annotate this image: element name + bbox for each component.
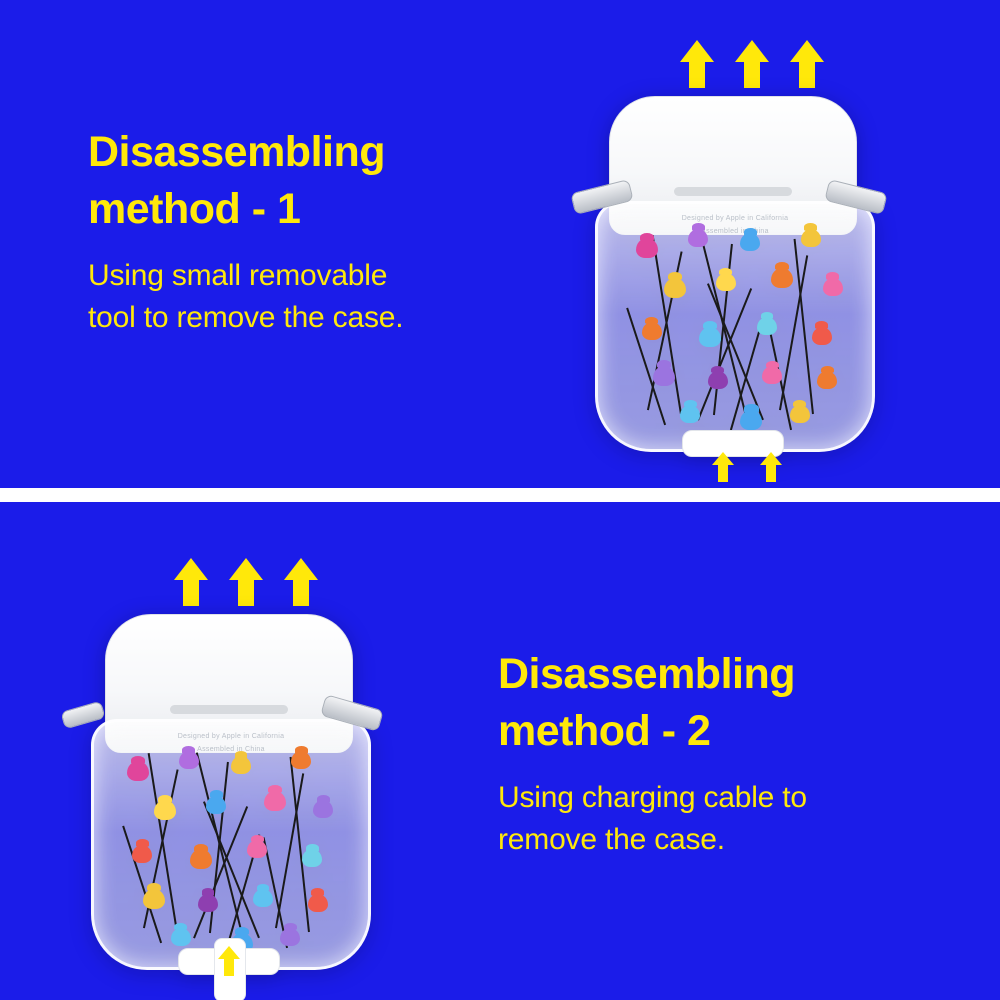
arrow-up-icon — [712, 452, 734, 482]
method-2-subtext-line-1: Using charging cable to — [498, 778, 938, 819]
airpods-case-illustration: Designed by Apple in California Assemble… — [592, 96, 872, 446]
arrow-up-icon — [174, 558, 208, 606]
arrow-up-icon — [760, 452, 782, 482]
method-1-text-block: Disassembling method - 1 Using small rem… — [88, 124, 518, 339]
method-1-subtext-line-2: tool to remove the case. — [88, 298, 518, 339]
case-shell: Designed by Apple in California Assemble… — [595, 201, 875, 452]
method-1-headline-line-2: method - 1 — [88, 181, 518, 238]
arrow-up-icon — [735, 40, 769, 88]
arrow-up-icon — [284, 558, 318, 606]
arrow-up-icon — [680, 40, 714, 88]
method-2-subtext-line-2: remove the case. — [498, 820, 938, 861]
airpods-case-illustration: Designed by Apple in California Assemble… — [88, 614, 368, 964]
method-1-headline-line-1: Disassembling — [88, 124, 518, 181]
method-1-subtext-line-1: Using small removable — [88, 256, 518, 297]
method-2-headline-line-2: method - 2 — [498, 703, 938, 760]
arrow-up-icon — [229, 558, 263, 606]
case-shell: Designed by Apple in California Assemble… — [91, 719, 371, 970]
floral-pattern — [94, 722, 368, 967]
arrow-up-icon — [218, 946, 240, 976]
method-2-text-block: Disassembling method - 2 Using charging … — [498, 646, 938, 861]
arrow-up-icon — [790, 40, 824, 88]
panel-divider — [0, 488, 1000, 502]
panel-method-1: Designed by Apple in California Assemble… — [0, 0, 1000, 488]
method-2-headline-line-1: Disassembling — [498, 646, 938, 703]
floral-pattern — [598, 204, 872, 449]
panel-method-2: Designed by Apple in California Assemble… — [0, 502, 1000, 1000]
